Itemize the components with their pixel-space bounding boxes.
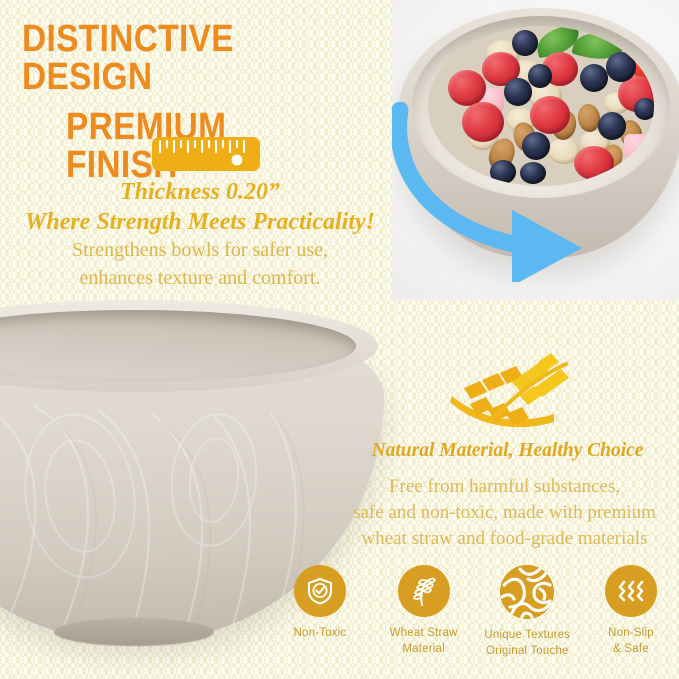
- badge-label-line-2: & Safe: [583, 642, 679, 658]
- swirl-texture-icon: [500, 565, 554, 619]
- blueberry: [606, 52, 636, 82]
- badge-non-slip-label: Non-Slip & Safe: [583, 626, 679, 658]
- material-body-line-3: wheat straw and food-grade materials: [330, 526, 679, 552]
- blue-curved-arrow-icon: [392, 102, 646, 282]
- badge-non-slip-safe[interactable]: Non-Slip & Safe: [583, 565, 679, 658]
- badge-non-toxic[interactable]: Non-Toxic: [272, 565, 368, 642]
- badge-wheat-straw-label: Wheat Straw Material: [376, 626, 472, 658]
- blueberry: [580, 64, 608, 92]
- badge-non-toxic-circle: [294, 565, 346, 617]
- shield-check-icon: [305, 576, 335, 606]
- material-body-line-2: safe and non-toxic, made with premium: [330, 500, 679, 526]
- badge-wheat-straw-material[interactable]: Wheat Straw Material: [376, 565, 472, 658]
- thickness-body-line-1: Strengthens bowls for safer use,: [0, 236, 400, 264]
- infographic-canvas: DISTINCTIVE DESIGN PREMIUM FINISH Thickn…: [0, 0, 679, 679]
- thickness-heading-line-1: Thickness 0.20”: [0, 178, 400, 208]
- thickness-heading-line-2: Where Strength Meets Practicality!: [0, 208, 400, 238]
- wheat-stalk-icon: [409, 575, 439, 607]
- large-bowl-foot: [54, 618, 214, 646]
- badge-label-line-2: Original Touche: [479, 644, 575, 660]
- bowl-with-berries-photo: [392, 0, 679, 300]
- blueberry: [528, 64, 552, 88]
- badge-unique-textures-circle: [500, 565, 554, 619]
- zigzag-waves-icon: [617, 577, 645, 605]
- badge-unique-textures[interactable]: Unique Textures Original Touche: [479, 565, 575, 660]
- badge-unique-textures-label: Unique Textures Original Touche: [479, 628, 575, 660]
- material-body: Free from harmful substances, safe and n…: [330, 474, 679, 551]
- badge-label-line-1: Wheat Straw: [376, 626, 472, 642]
- badge-label-line-1: Non-Toxic: [272, 626, 368, 642]
- thickness-body: Strengthens bowls for safer use, enhance…: [0, 236, 400, 293]
- material-heading: Natural Material, Healthy Choice: [336, 440, 679, 462]
- badge-non-slip-circle: [605, 565, 657, 617]
- wheat-stalks-emblem-icon: [450, 352, 574, 430]
- badge-non-toxic-label: Non-Toxic: [272, 626, 368, 642]
- thickness-body-line-2: enhances texture and comfort.: [0, 264, 400, 292]
- ruler-icon: [152, 137, 260, 171]
- badge-label-line-2: Material: [376, 642, 472, 658]
- badge-label-line-1: Non-Slip: [583, 626, 679, 642]
- badge-wheat-straw-circle: [398, 565, 450, 617]
- feature-badges-row: Non-Toxic W: [272, 565, 679, 675]
- material-body-line-1: Free from harmful substances,: [330, 474, 679, 500]
- thickness-heading: Thickness 0.20” Where Strength Meets Pra…: [0, 178, 400, 238]
- badge-label-line-1: Unique Textures: [479, 628, 575, 644]
- raspberry: [448, 70, 486, 106]
- blueberry: [512, 30, 538, 56]
- headline-line-1: DISTINCTIVE DESIGN: [22, 20, 339, 96]
